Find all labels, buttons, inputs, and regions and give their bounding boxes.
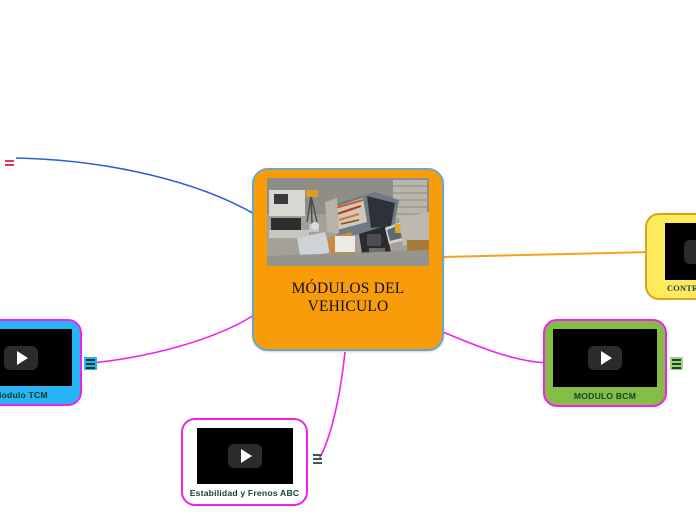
video-thumbnail-tcm[interactable] — [0, 329, 72, 386]
note-line — [5, 160, 14, 162]
play-icon[interactable] — [684, 240, 696, 264]
node-control[interactable]: CONTROL — [645, 213, 696, 300]
mindmap-canvas[interactable]: MÓDULOS DEL VEHICULO Modulo TCM MODULO B… — [0, 0, 696, 520]
central-title-line2: VEHICULO — [273, 298, 423, 316]
node-label-bcm: MODULO BCM — [574, 391, 636, 401]
video-thumbnail-control[interactable] — [665, 223, 696, 280]
play-triangle — [241, 449, 252, 463]
note-line — [5, 164, 14, 166]
play-triangle — [601, 351, 612, 365]
note-icon-tcm[interactable] — [84, 357, 97, 370]
note-icon-left-branch[interactable] — [3, 156, 16, 169]
note-line — [86, 359, 95, 361]
central-title-line1: MÓDULOS DEL — [273, 280, 423, 298]
node-estabilidad-frenos-abc[interactable]: Estabilidad y Frenos ABC — [181, 418, 308, 506]
workshop-photo — [267, 178, 429, 266]
note-line — [313, 458, 322, 460]
connector-magenta-bcm — [443, 332, 548, 363]
connector-blue-left — [16, 158, 256, 215]
note-icon-bcm[interactable] — [670, 357, 683, 370]
central-node[interactable]: MÓDULOS DEL VEHICULO — [252, 168, 444, 351]
central-node-title: MÓDULOS DEL VEHICULO — [273, 280, 423, 317]
play-icon[interactable] — [588, 346, 622, 370]
node-modulo-tcm[interactable]: Modulo TCM — [0, 319, 82, 406]
note-line — [86, 367, 95, 369]
video-thumbnail-bcm[interactable] — [553, 329, 657, 387]
connector-magenta-tcm — [92, 315, 254, 363]
note-icon-abs[interactable] — [311, 452, 324, 465]
node-label-tcm: Modulo TCM — [0, 390, 48, 400]
node-modulo-bcm[interactable]: MODULO BCM — [543, 319, 667, 407]
connector-orange-right — [442, 252, 652, 257]
note-line — [313, 462, 322, 464]
node-label-control: CONTROL — [667, 284, 696, 293]
central-node-image — [267, 178, 429, 266]
play-triangle — [17, 351, 28, 365]
play-icon[interactable] — [228, 444, 262, 468]
play-icon[interactable] — [4, 346, 38, 370]
connector-magenta-abs — [319, 352, 345, 459]
note-line — [672, 367, 681, 369]
note-line — [313, 454, 322, 456]
node-label-abs: Estabilidad y Frenos ABC — [190, 488, 300, 498]
note-line — [672, 359, 681, 361]
video-thumbnail-abs[interactable] — [197, 428, 293, 484]
note-line — [672, 363, 681, 365]
note-line — [86, 363, 95, 365]
